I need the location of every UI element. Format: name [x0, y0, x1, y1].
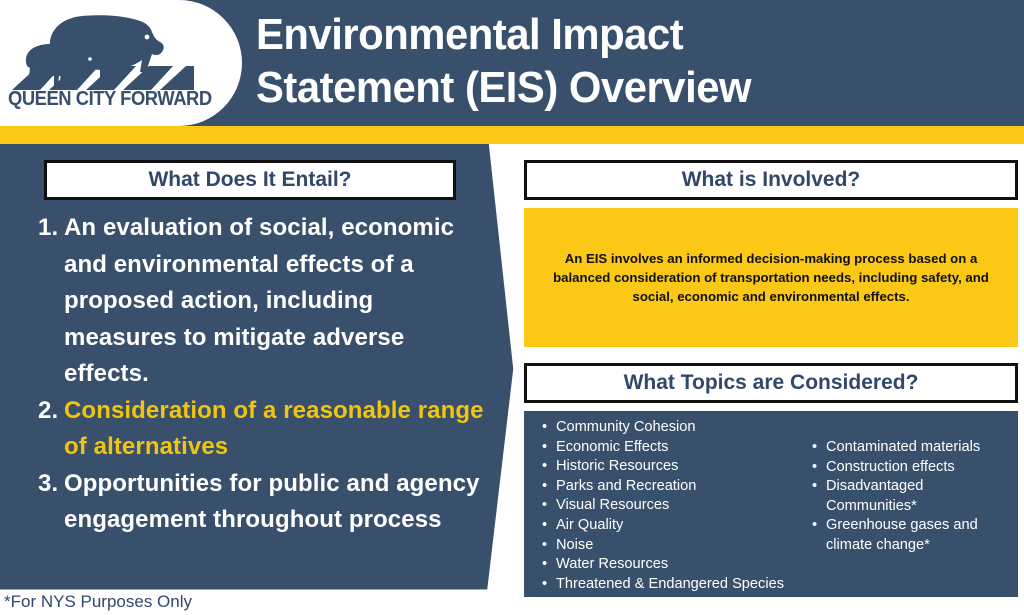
involved-body: An EIS involves an informed decision-mak… — [538, 249, 1004, 306]
list-item-number: 2. — [38, 393, 64, 430]
list-item: Greenhouse gases and climate change* — [810, 516, 1010, 555]
list-item-label: Consideration of a reasonable range of a… — [64, 393, 488, 466]
list-item: Contaminated materials — [810, 438, 1010, 458]
topics-column-left: Community Cohesion Economic Effects Hist… — [540, 418, 810, 594]
list-item-label: Opportunities for public and agency enga… — [64, 466, 488, 539]
logo-wordmark: QUEEN CITY FORWARD — [8, 88, 174, 111]
list-item: Disadvantaged Communities* — [810, 477, 1010, 516]
topics-column-right: Contaminated materials Construction effe… — [810, 438, 1010, 556]
page-header: QUEEN CITY FORWARD Environmental Impact … — [0, 0, 1024, 126]
list-item: 1. An evaluation of social, economic and… — [38, 210, 488, 393]
footnote: *For NYS Purposes Only — [4, 592, 192, 612]
list-item: Community Cohesion — [540, 418, 810, 438]
list-item: Threatened & Endangered Species — [540, 575, 810, 595]
topics-box: Community Cohesion Economic Effects Hist… — [524, 411, 1018, 597]
left-panel: What Does It Entail? 1. An evaluation of… — [0, 144, 520, 594]
list-item: 3. Opportunities for public and agency e… — [38, 466, 488, 539]
right-column: What is Involved? An EIS involves an inf… — [524, 160, 1018, 597]
list-item-number: 3. — [38, 466, 64, 503]
list-item: Water Resources — [540, 555, 810, 575]
page-title-line-1: Environmental Impact — [256, 8, 978, 61]
page-title-line-2: Statement (EIS) Overview — [256, 61, 978, 114]
entail-list: 1. An evaluation of social, economic and… — [38, 210, 488, 539]
left-panel-heading: What Does It Entail? — [44, 160, 456, 200]
list-item: Noise — [540, 536, 810, 556]
list-item: Visual Resources — [540, 496, 810, 516]
list-item: Economic Effects — [540, 438, 810, 458]
topics-heading: What Topics are Considered? — [524, 363, 1018, 403]
header-accent-bar — [0, 126, 1024, 144]
list-item-number: 1. — [38, 210, 64, 247]
list-item-label: An evaluation of social, economic and en… — [64, 210, 488, 393]
list-item: Construction effects — [810, 458, 1010, 478]
list-item: Parks and Recreation — [540, 477, 810, 497]
list-item: Air Quality — [540, 516, 810, 536]
involved-heading: What is Involved? — [524, 160, 1018, 200]
involved-callout: An EIS involves an informed decision-mak… — [524, 208, 1018, 347]
page-title: Environmental Impact Statement (EIS) Ove… — [256, 8, 978, 114]
list-item: 2. Consideration of a reasonable range o… — [38, 393, 488, 466]
logo-plate: QUEEN CITY FORWARD — [0, 0, 242, 126]
list-item: Historic Resources — [540, 457, 810, 477]
